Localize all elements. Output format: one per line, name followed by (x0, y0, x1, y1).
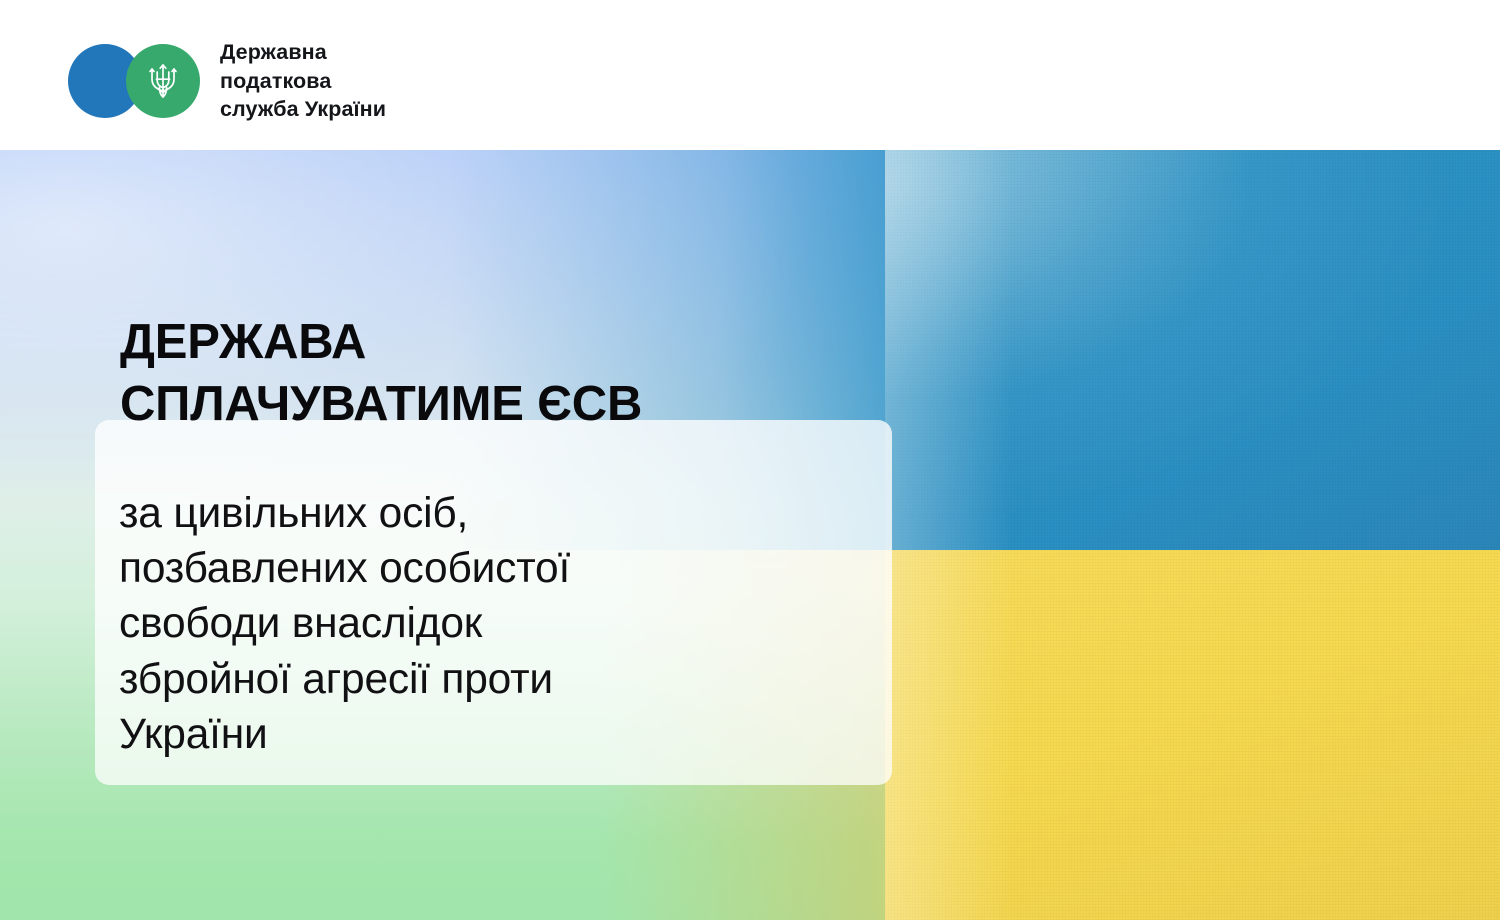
organization-name: Державна податкова служба України (220, 38, 386, 124)
logo-mark (68, 44, 200, 118)
organization-logo[interactable]: Державна податкова служба України (68, 38, 386, 124)
photo-blue-backdrop (885, 150, 1500, 550)
page-title: ДЕРЖАВА СПЛАЧУВАТИМЕ ЄСВ (120, 312, 890, 435)
photo-yellow-backdrop (885, 550, 1500, 920)
site-header: Державна податкова служба України (0, 0, 1500, 150)
hero-photo (885, 150, 1500, 920)
ukraine-trident-icon (126, 44, 200, 118)
poster-canvas: ДЕРЖАВА СПЛАЧУВАТИМЕ ЄСВ за цивільних ос… (0, 0, 1500, 920)
page-subtitle: за цивільних осіб, позбавлених особистої… (119, 486, 894, 763)
